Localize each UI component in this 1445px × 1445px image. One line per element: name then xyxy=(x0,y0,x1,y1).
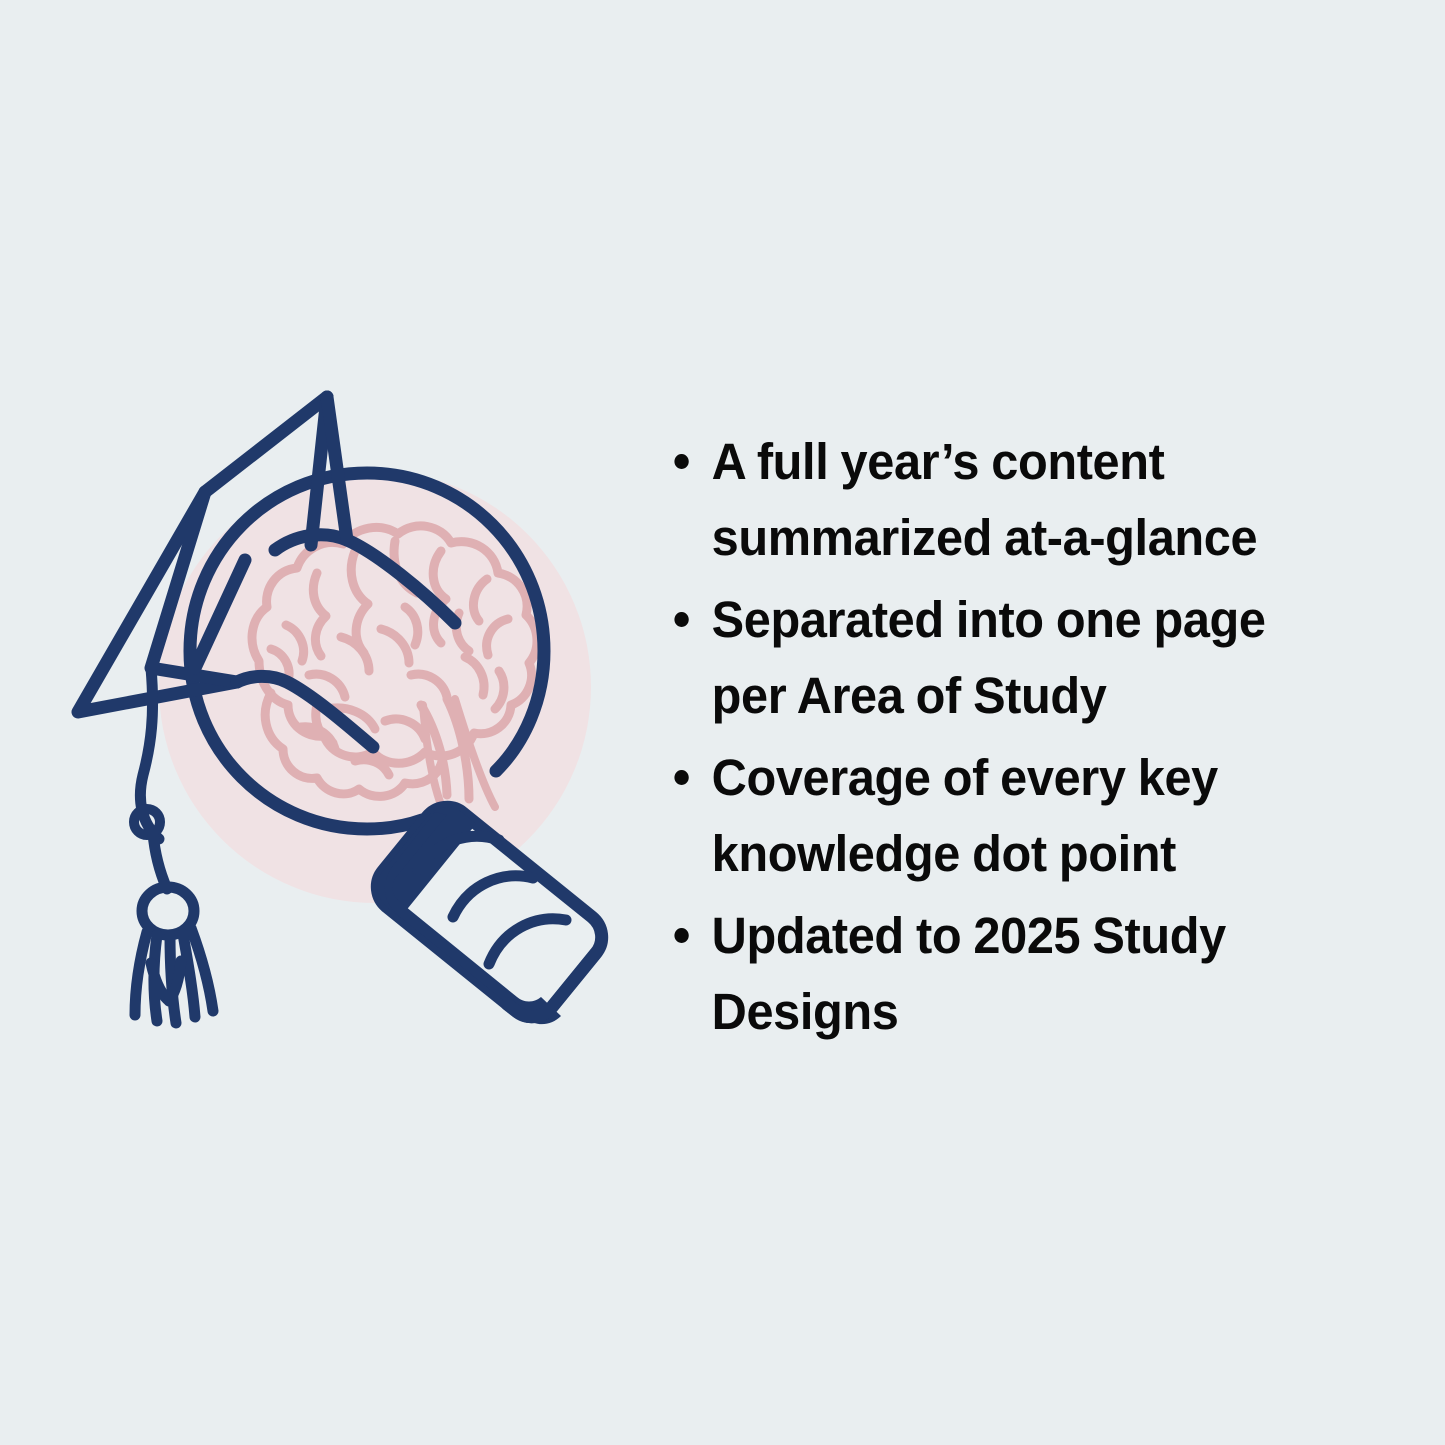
bullet-text: Updated to 2025 Study Designs xyxy=(712,898,1340,1050)
list-item: Updated to 2025 Study Designs xyxy=(662,898,1340,1050)
list-item: Coverage of every key knowledge dot poin… xyxy=(662,740,1340,892)
promo-graphic-canvas: A full year’s content summarized at-a-gl… xyxy=(0,0,1445,1445)
list-item: Separated into one page per Area of Stud… xyxy=(662,582,1340,734)
bullet-dot-icon xyxy=(674,928,688,943)
bullet-text: Coverage of every key knowledge dot poin… xyxy=(712,740,1340,892)
feature-bullet-list: A full year’s content summarized at-a-gl… xyxy=(662,424,1372,1056)
bullet-text: Separated into one page per Area of Stud… xyxy=(712,582,1340,734)
bullet-dot-icon xyxy=(674,454,688,469)
bullet-dot-icon xyxy=(674,770,688,785)
bullet-text: A full year’s content summarized at-a-gl… xyxy=(712,424,1340,576)
bullet-dot-icon xyxy=(674,612,688,627)
list-item: A full year’s content summarized at-a-gl… xyxy=(662,424,1340,576)
graduation-cap-brain-lightbulb-illustration xyxy=(55,375,675,1075)
bulb-screw-base xyxy=(377,807,601,1024)
